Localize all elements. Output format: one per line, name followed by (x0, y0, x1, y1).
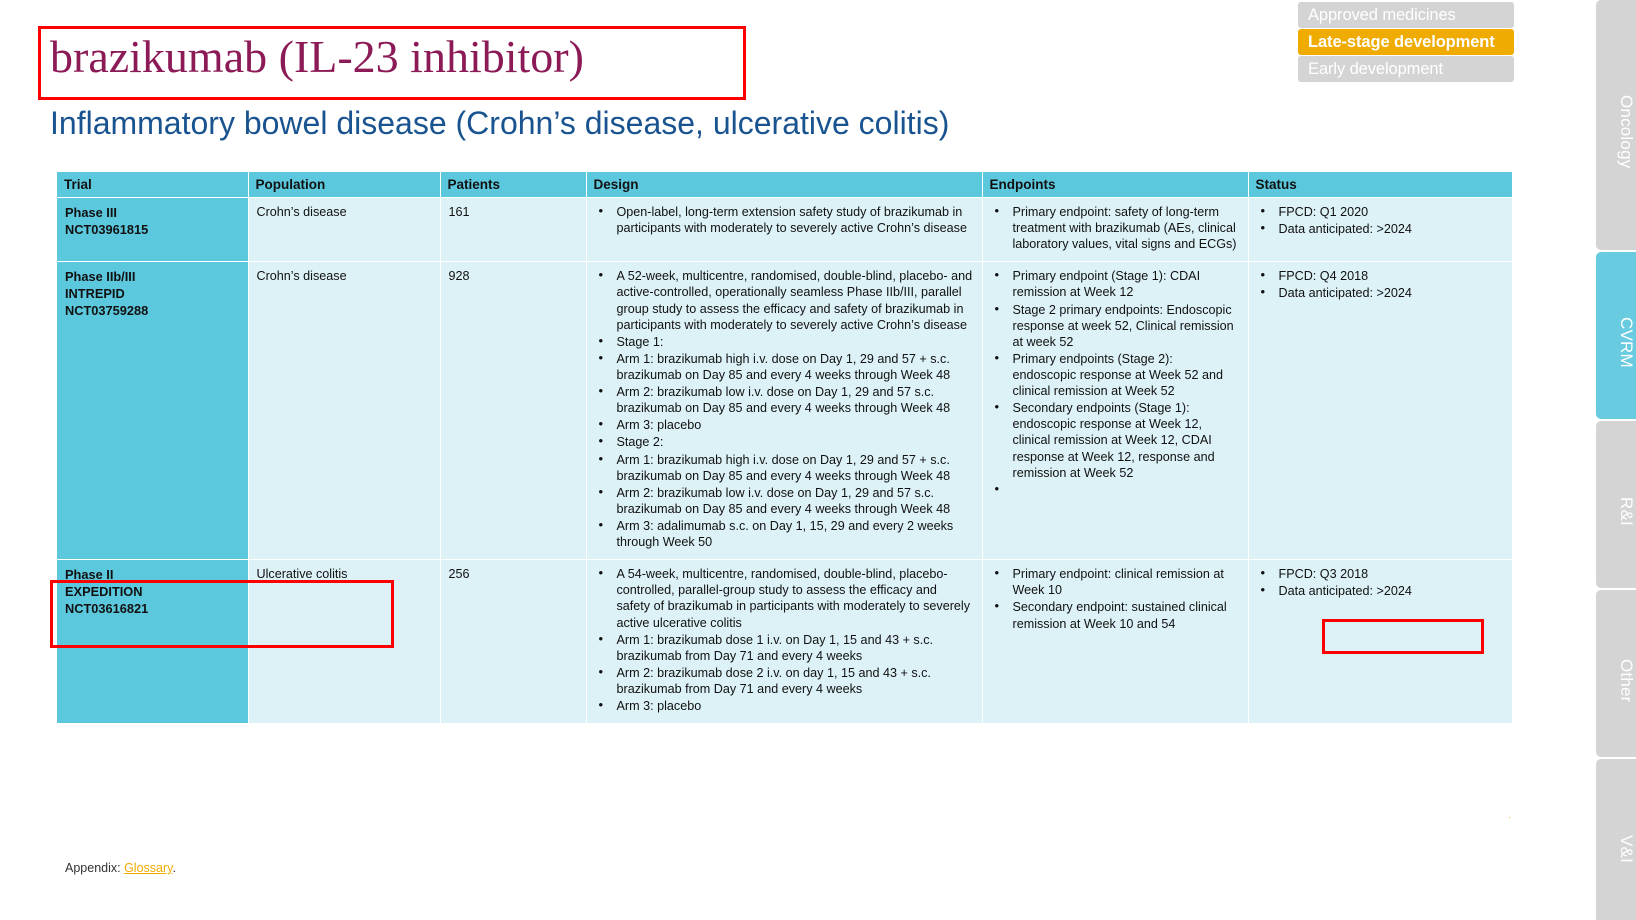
cell-design: A 52-week, multicentre, randomised, doub… (586, 262, 982, 560)
cell-endpoints: Primary endpoint: safety of long-term tr… (982, 198, 1248, 262)
page-marker: · (1508, 812, 1511, 822)
trial-name: INTREPID (65, 285, 240, 302)
cell-population: Crohn’s disease (248, 198, 440, 262)
footer-suffix: . (172, 861, 175, 875)
design-bullet: Open-label, long-term extension safety s… (595, 204, 974, 236)
trial-id: NCT03616821 (65, 600, 240, 617)
therapy-area-tab-cvrm[interactable]: CVRM (1596, 252, 1636, 419)
design-bullet: Arm 2: brazikumab dose 2 i.v. on day 1, … (595, 665, 974, 697)
design-bullet: Stage 1: (595, 334, 974, 350)
cell-patients: 928 (440, 262, 586, 560)
table-row: Phase III NCT03961815 Crohn’s disease 16… (57, 198, 1512, 262)
endpoint-bullet: Primary endpoint: safety of long-term tr… (991, 204, 1240, 252)
therapy-area-tab-other[interactable]: Other (1596, 590, 1636, 757)
cell-trial: Phase II EXPEDITION NCT03616821 (57, 560, 248, 723)
column-header-population: Population (248, 172, 440, 198)
status-bullet: Data anticipated: >2024 (1257, 583, 1505, 599)
column-header-design: Design (586, 172, 982, 198)
cell-patients: 256 (440, 560, 586, 723)
cell-design: A 54-week, multicentre, randomised, doub… (586, 560, 982, 723)
design-bullet: Arm 3: placebo (595, 417, 974, 433)
design-bullet: Arm 3: placebo (595, 698, 974, 714)
column-header-endpoints: Endpoints (982, 172, 1248, 198)
trial-phase: Phase IIb/III (65, 268, 240, 285)
stage-tab-group: Approved medicines Late-stage developmen… (1298, 2, 1514, 83)
footer-prefix: Appendix: (65, 861, 124, 875)
cell-status: FPCD: Q1 2020 Data anticipated: >2024 (1248, 198, 1512, 262)
trial-name: EXPEDITION (65, 583, 240, 600)
design-bullet: Arm 2: brazikumab low i.v. dose on Day 1… (595, 384, 974, 416)
therapy-area-tab-label: Oncology (1616, 0, 1636, 250)
design-bullet: Arm 1: brazikumab dose 1 i.v. on Day 1, … (595, 632, 974, 664)
page-title: brazikumab (IL-23 inhibitor) (50, 34, 584, 80)
therapy-area-tab-label: Other (1616, 590, 1636, 757)
trial-phase: Phase III (65, 204, 240, 221)
cell-trial: Phase IIb/III INTREPID NCT03759288 (57, 262, 248, 560)
table-header-row: Trial Population Patients Design Endpoin… (57, 172, 1512, 198)
table-row: Phase II EXPEDITION NCT03616821 Ulcerati… (57, 560, 1512, 723)
design-bullet: A 52-week, multicentre, randomised, doub… (595, 268, 974, 332)
endpoint-bullet: Secondary endpoint: sustained clinical r… (991, 599, 1240, 631)
cell-population: Crohn’s disease (248, 262, 440, 560)
cell-status: FPCD: Q4 2018 Data anticipated: >2024 (1248, 262, 1512, 560)
endpoint-bullet: Primary endpoint (Stage 1): CDAI remissi… (991, 268, 1240, 300)
design-bullet: A 54-week, multicentre, randomised, doub… (595, 566, 974, 630)
therapy-area-tab-label: CVRM (1616, 252, 1636, 419)
therapy-area-tab-rail: Oncology CVRM R&I Other V&I Rare Disease (1596, 0, 1636, 920)
design-bullet: Stage 2: (595, 434, 974, 450)
cell-population: Ulcerative colitis (248, 560, 440, 723)
column-header-trial: Trial (57, 172, 248, 198)
trial-phase: Phase II (65, 566, 240, 583)
stage-tab-late-stage-development[interactable]: Late-stage development (1298, 29, 1514, 55)
slide-canvas: Approved medicines Late-stage developmen… (0, 0, 1636, 920)
therapy-area-tab-label: V&I (1616, 759, 1636, 920)
status-bullet: Data anticipated: >2024 (1257, 285, 1505, 301)
design-bullet: Arm 1: brazikumab high i.v. dose on Day … (595, 351, 974, 383)
footer-note: Appendix: Glossary. (65, 861, 176, 875)
design-bullet: Arm 3: adalimumab s.c. on Day 1, 15, 29 … (595, 518, 974, 550)
endpoint-bullet: Secondary endpoints (Stage 1): endoscopi… (991, 400, 1240, 481)
therapy-area-tab-label: R&I (1616, 421, 1636, 588)
status-bullet: FPCD: Q4 2018 (1257, 268, 1505, 284)
cell-endpoints: Primary endpoint: clinical remission at … (982, 560, 1248, 723)
column-header-status: Status (1248, 172, 1512, 198)
table-row: Phase IIb/III INTREPID NCT03759288 Crohn… (57, 262, 1512, 560)
therapy-area-tab-ri[interactable]: R&I (1596, 421, 1636, 588)
endpoint-bullet: Stage 2 primary endpoints: Endoscopic re… (991, 302, 1240, 350)
cell-trial: Phase III NCT03961815 (57, 198, 248, 262)
cell-status: FPCD: Q3 2018 Data anticipated: >2024 (1248, 560, 1512, 723)
cell-design: Open-label, long-term extension safety s… (586, 198, 982, 262)
status-bullet: FPCD: Q3 2018 (1257, 566, 1505, 582)
therapy-area-tab-vi[interactable]: V&I (1596, 759, 1636, 920)
clinical-trials-table: Trial Population Patients Design Endpoin… (57, 172, 1512, 723)
column-header-patients: Patients (440, 172, 586, 198)
cell-endpoints: Primary endpoint (Stage 1): CDAI remissi… (982, 262, 1248, 560)
stage-tab-approved-medicines[interactable]: Approved medicines (1298, 2, 1514, 28)
page-subtitle: Inflammatory bowel disease (Crohn’s dise… (50, 104, 949, 142)
endpoint-bullet: Primary endpoints (Stage 2): endoscopic … (991, 351, 1240, 399)
trial-id: NCT03961815 (65, 221, 240, 238)
endpoint-bullet: Primary endpoint: clinical remission at … (991, 566, 1240, 598)
design-bullet: Arm 2: brazikumab low i.v. dose on Day 1… (595, 485, 974, 517)
stage-tab-early-development[interactable]: Early development (1298, 56, 1514, 82)
trial-id: NCT03759288 (65, 302, 240, 319)
design-bullet: Arm 1: brazikumab high i.v. dose on Day … (595, 452, 974, 484)
status-bullet: Data anticipated: >2024 (1257, 221, 1505, 237)
status-bullet: FPCD: Q1 2020 (1257, 204, 1505, 220)
therapy-area-tab-oncology[interactable]: Oncology (1596, 0, 1636, 250)
glossary-link[interactable]: Glossary (124, 861, 172, 875)
cell-patients: 161 (440, 198, 586, 262)
